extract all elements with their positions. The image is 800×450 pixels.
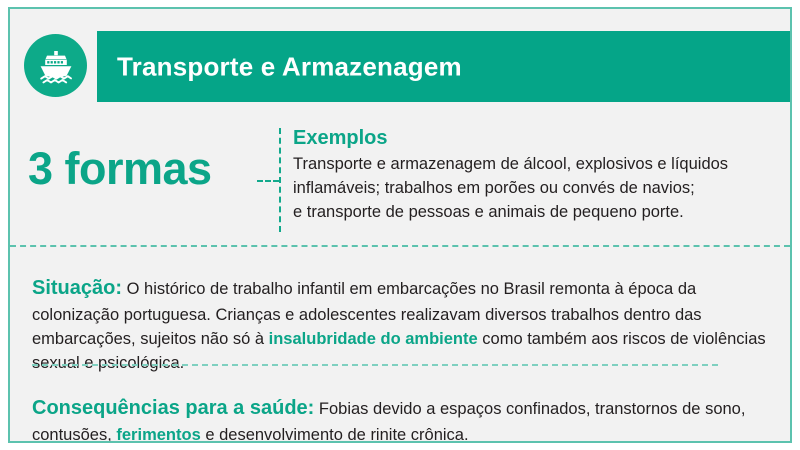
- consequencias-label: Consequências para a saúde:: [32, 397, 314, 419]
- dashed-connector-vertical: [279, 128, 281, 232]
- situacao-label: Situação:: [32, 277, 122, 299]
- examples-line: inflamáveis; trabalhos em porões ou conv…: [293, 176, 778, 200]
- examples-line: Transporte e armazenagem de álcool, expl…: [293, 152, 778, 176]
- page-title: Transporte e Armazenagem: [117, 51, 462, 82]
- dashed-connector-horizontal: [257, 180, 279, 182]
- consequencias-highlight: ferimentos: [116, 426, 200, 443]
- header: Transporte e Armazenagem: [10, 9, 790, 117]
- consequencias-text-2: e desenvolvimento de rinite crônica.: [201, 426, 469, 443]
- formas-section: 3 formas Exemplos Transporte e armazenag…: [10, 117, 790, 237]
- infographic-card: Transporte e Armazenagem 3 formas Exempl…: [8, 7, 792, 443]
- examples-block: Exemplos Transporte e armazenagem de álc…: [293, 126, 778, 224]
- divider-bottom: [32, 364, 718, 366]
- situacao-highlight: insalubridade do ambiente: [269, 330, 478, 348]
- situacao-section: Situação: O histórico de trabalho infant…: [32, 257, 772, 391]
- header-bar: Transporte e Armazenagem: [97, 31, 790, 102]
- consequencias-paragraph: Consequências para a saúde: Fobias devid…: [32, 394, 772, 444]
- examples-title: Exemplos: [293, 126, 778, 150]
- situacao-paragraph: Situação: O histórico de trabalho infant…: [32, 274, 772, 375]
- divider-top: [10, 245, 790, 247]
- consequencias-section: Consequências para a saúde: Fobias devid…: [32, 377, 772, 443]
- examples-line: e transporte de pessoas e animais de peq…: [293, 200, 778, 224]
- ship-icon: [35, 45, 77, 87]
- ship-icon-badge: [24, 34, 87, 97]
- formas-count-label: 3 formas: [28, 143, 212, 195]
